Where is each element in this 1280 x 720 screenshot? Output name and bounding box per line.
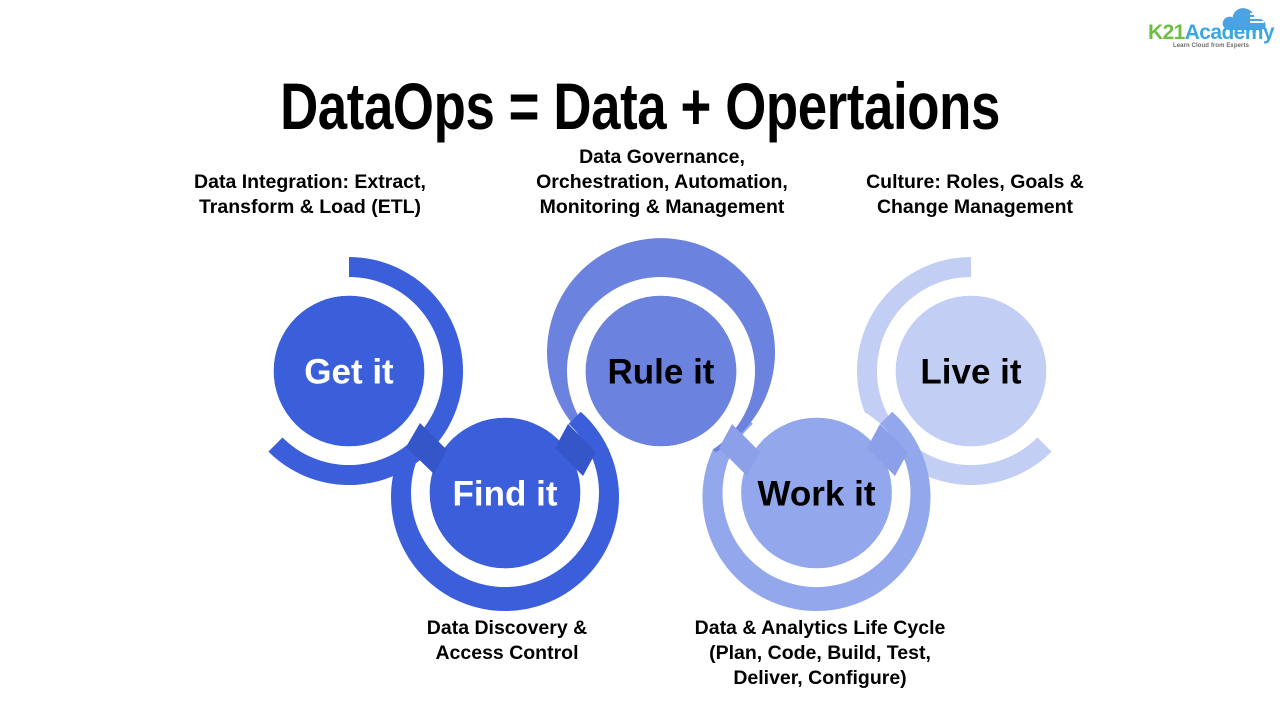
rule-it-label: Rule it [608,353,715,392]
dataops-loop-diagram: Live it Work it Rule it Find it Get it [0,0,1280,720]
find-it-label: Find it [453,475,558,514]
get-it-label: Get it [304,353,394,392]
work-it-label: Work it [758,475,876,514]
live-it-label: Live it [920,353,1021,392]
